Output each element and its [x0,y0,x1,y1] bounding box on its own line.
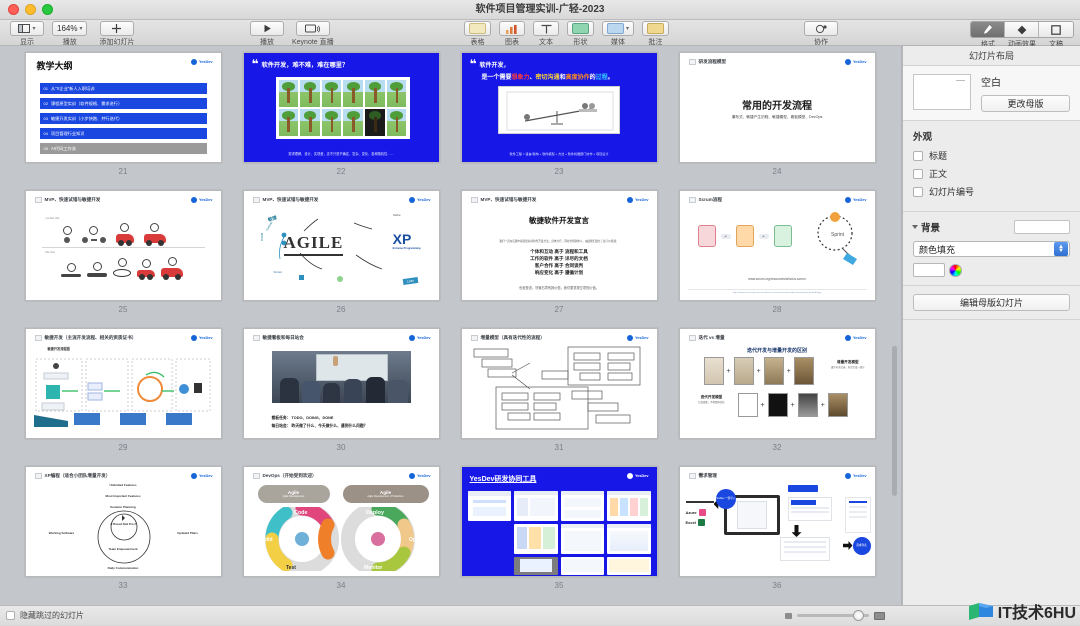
layout-name: 空白 [981,74,1070,89]
slide-header: XP编程（适合小团队增量开发） [35,473,111,479]
insert-chart-button[interactable]: 图表 [495,20,529,47]
yesdev-cards-row3 [462,557,657,577]
manifesto-footer: 也就是说，尽管右项有其价值，我们更重视左项的价值。 [486,286,633,291]
slide-cell[interactable]: 敏捷看板和每日站会 YesDev [232,328,450,466]
logo-text: YesDev [635,336,649,340]
logo-text: YesDev [199,198,213,202]
bottom-bar: 隐藏跳过的幻灯片 IT技术6HU [0,605,1080,625]
collaborate-button[interactable]: 协作 [800,20,842,47]
title-bar: 软件项目管理实训-广轻-2023 [0,0,1080,20]
slide-cell[interactable]: Scrum流程 YesDev ➜ ➜ [668,190,886,328]
header-box-icon [253,473,260,479]
logo: YesDev [845,59,867,65]
slide-cell[interactable]: XP编程（适合小团队增量开发） YesDev Unlimited Feature… [14,466,232,604]
logo-dot-icon [627,473,633,479]
watermark-text: IT技术6HU [998,599,1076,623]
logo-text: YesDev [199,474,213,478]
insert-table-button[interactable]: 表格 [460,20,495,47]
chevron-down-icon: ▾ [32,25,35,32]
agile-flow-diagram [34,353,214,427]
slide-header-text: MVP、快速试错与敏捷开发 [45,197,101,203]
tree-cell [364,79,386,108]
play-button[interactable]: 播放 [246,20,288,47]
slide-thumbnail[interactable]: 迭代 vs 增量 YesDev 迭代开发与增量开发的区别 + + + [679,328,876,439]
slide-number: 29 [119,443,128,452]
slide-number: 32 [773,443,782,452]
face-icon [168,257,177,266]
face-icon [118,258,127,267]
devops-banner-left: Agile Agile Development [258,485,330,503]
slide-header-text: 研发流程模型 [699,59,727,65]
tab-format[interactable] [971,22,1005,37]
logo-text: YesDev [199,60,213,64]
media-icon [607,23,624,34]
scrollbar-thumb[interactable] [892,346,897,496]
xp-node: Team Empowerment [26,547,221,551]
outline-bar: 02 课程原型实训（软件规格、需求进行） [40,98,207,109]
header-box-icon [35,473,42,479]
svg-text:Sprint: Sprint [831,232,845,238]
slide-header-text: Scrum流程 [699,197,723,203]
slide-thumbnail[interactable]: 敏捷看板和每日站会 YesDev [243,328,440,439]
slide-header: 增量模型（具有迭代性的流程） [471,335,545,341]
slide-header-text: XP编程（适合小团队增量开发） [45,473,111,479]
view-button[interactable]: ▾ 显示 [6,20,48,47]
badge-import: YesDev 一键导入 [716,489,736,509]
increment-caption: 增量开发模型 逐步补充完善，每次完成一部分 [831,360,864,369]
logo-text: YesDev [853,336,867,340]
tree-cell [278,108,300,137]
slide-thumbnail[interactable]: ❝ 软件开发， 是一个需要想象力、密切沟通和高度协作的过程。 [461,52,658,163]
slide-header: MVP、快速试错与敏捷开发 [35,197,101,203]
background-color-well[interactable] [913,263,945,277]
format-brush-icon [982,24,993,35]
header-box-icon [35,335,42,341]
zoom-slider-track[interactable] [797,614,869,617]
banner-left-sub: Agile Development [283,495,305,498]
document-square-icon [1051,25,1061,35]
req-panel-3 [845,497,871,533]
t-pre: 是一个需要 [482,75,512,81]
slide-grid: 教学大纲 YesDev 01 从"X企业"新人入职培训 [0,46,901,604]
logo: YesDev [409,335,431,341]
checkbox-body[interactable]: 正文 [913,167,1070,180]
slide-title: 敏捷软件开发宣言 [462,215,657,226]
svg-text:Monitor: Monitor [364,565,382,571]
hide-skipped-label: 隐藏跳过的幻灯片 [20,610,84,621]
slide-thumbnail[interactable]: YesDev研发协同工具 YesDev [461,466,658,577]
slide-cell[interactable]: 需求管理 YesDev Azure [668,466,886,604]
yd-card [514,491,558,521]
checkbox-icon[interactable] [913,169,923,179]
slide-thumbnail[interactable]: Scrum流程 YesDev ➜ ➜ [679,190,876,301]
chevron-down-icon [912,225,918,229]
play-icon [263,24,272,33]
insert-comment-button[interactable]: 批注 [638,20,673,47]
slide-number: 21 [119,167,128,176]
logo-dot-icon [845,59,851,65]
scrum-caption: www.scrum.org/resources/what-is-scrum [692,277,863,282]
tree-cell [364,108,386,137]
yd-card [468,491,512,521]
yd-card-empty [468,524,512,554]
yesdev-cards-row2 [462,524,657,554]
manifesto-lines: 个体和互动 高于 流程和工具 工作的软件 高于 详尽的文档 客户合作 高于 合同… [462,248,657,276]
svg-text:Code: Code [294,510,307,516]
logo: YesDev [627,335,649,341]
appearance-label: 外观 [913,129,1070,143]
tool-name: Azure [686,510,697,515]
yd-card [514,557,558,575]
yd-card [561,557,605,575]
logo-text: YesDev [199,336,213,340]
t-hl3: 高度协作 [566,75,590,81]
watermark: IT技术6HU [968,599,1076,623]
t-hl4: 过程 [596,75,608,81]
yd-card [561,491,605,521]
slide-thumbnail[interactable]: DevOps（开始受到欢迎） YesDev Agile Agile Develo… [243,466,440,577]
svg-text:Operate: Operate [409,537,428,543]
tree-cell [342,79,364,108]
badge-text: 需求列表 [856,544,866,547]
arrow-down-icon [792,525,802,537]
slide-thumbnail[interactable]: MVP、快速试错与敏捷开发 YesDev AGILE XP Extrem [243,190,440,301]
inspector-tabs: 格式 动画效果 文稿 [970,20,1074,49]
bar-text: 敏捷开发实训（小步快跑、并行迭代） [51,116,122,122]
logo: YesDev [191,197,213,203]
slide-number: 22 [337,167,346,176]
slide-header-text: 敏捷看板和每日站会 [263,335,304,341]
slide-navigator[interactable]: 教学大纲 YesDev 01 从"X企业"新人入职培训 [0,46,902,605]
slide-title-line2: 是一个需要想象力、密切沟通和高度协作的过程。 [482,72,649,81]
zoom-slider-knob[interactable] [853,610,864,621]
tree-cell [278,79,300,108]
main-area: 教学大纲 YesDev 01 从"X企业"新人入职培训 [0,46,1080,605]
slide-header: Scrum流程 [689,197,723,203]
logo-dot-icon [191,473,197,479]
increment-diagram [468,345,654,433]
outline-bar: 03 敏捷开发实训（小步快跑、并行迭代） [40,113,207,124]
keynote-window: 软件项目管理实训-广轻-2023 ▾ 显示 164% ▾ 播放 [0,0,1080,625]
insert-media-button[interactable]: ▾ 媒体 [598,20,638,47]
slide-header: 迭代 vs 增量 [689,335,725,341]
checkbox-icon[interactable] [6,611,15,620]
logo: YesDev [191,473,213,479]
scrum-url: https://www.scrum.org/resources/what-is-… [688,289,867,294]
svg-text:Test: Test [286,565,296,571]
slide-title: 迭代开发与增量开发的区别 [680,347,875,354]
logo-dot-icon [845,335,851,341]
iterate-sub: 反复细化，不断整体优化 [692,400,732,404]
tool-name: Excel [686,520,696,525]
devops-infinity-icon: Code Build Test Deploy Operate Monitor [254,507,432,571]
edit-master-button[interactable]: 编辑母版幻灯片 [913,294,1070,311]
mvp-row-1 [48,223,181,243]
t-hl1: 想象力 [512,75,530,81]
insert-text-button[interactable]: 文本 [529,20,563,47]
face-icon [120,223,129,232]
logo-dot-icon [191,59,197,65]
background-section: 背景 颜色填充 ▲▼ [903,212,1080,286]
slide-number: 27 [555,305,564,314]
color-wheel-icon[interactable] [949,264,962,277]
background-color-row [913,263,1070,277]
bar-text: AI代码工作流 [51,146,76,152]
window-title: 软件项目管理实训-广轻-2023 [0,0,1080,20]
slide-cell[interactable]: MVP、快速试错与敏捷开发 YesDev AGILE XP Extrem [232,190,450,328]
arrow-icon: ➜ [759,234,769,239]
logo-dot-icon [191,335,197,341]
logo: YesDev [627,197,649,203]
slide-thumbnail[interactable]: XP编程（适合小团队增量开发） YesDev Unlimited Feature… [25,466,222,577]
bar-num: 04 [44,131,48,136]
tab-document[interactable] [1039,22,1073,37]
toolbar: ▾ 显示 164% ▾ 播放 添加幻灯片 [0,20,1080,46]
outline-bar-muted: 05 AI代码工作流 [40,143,207,154]
bar-text: 课程原型实训（软件规格、需求进行） [51,101,122,107]
background-preview-swatch[interactable] [1014,220,1070,234]
header-box-icon [35,197,42,203]
slide-title-line1: 软件开发， [480,60,510,69]
slide-caption: 软件工程 = 语言/架构 + 软件模型 + 方法 + 软件机器部门协作 + 项目… [472,151,647,156]
logo-text: YesDev [635,198,649,202]
hide-skipped-row[interactable]: 隐藏跳过的幻灯片 [6,610,84,621]
slide-number: 25 [119,305,128,314]
zoom-value: 164% [57,24,77,33]
slide-number: 31 [555,443,564,452]
slide-number: 33 [119,581,128,590]
slide-thumbnail[interactable]: MVP、快速试错与敏捷开发 YesDev 敏捷软件开发宣言 我们一直在实践中探索… [461,190,658,301]
add-slide-button[interactable]: 添加幻灯片 [95,20,138,47]
face-icon [93,262,102,271]
logo-dot-icon [409,335,415,341]
outline-bar: 01 从"X企业"新人入职培训 [40,83,207,94]
bar-num: 03 [44,116,48,121]
slide-number: 28 [773,305,782,314]
slide-header: 敏捷看板和每日站会 [253,335,304,341]
arrow-icon: ➜ [721,234,731,239]
animate-diamond-icon [1017,25,1027,35]
slide-header-text: 增量模型（具有迭代性的流程） [481,335,545,341]
tab-animate[interactable] [1005,22,1039,37]
xp-node: Working Software [46,531,78,535]
scrum-card [736,225,754,247]
stepper-icon[interactable]: ▲▼ [1054,242,1068,256]
scrum-card [774,225,792,247]
logo-text: YesDev [853,474,867,478]
display-icon [305,24,320,34]
logo-dot-icon [191,197,197,203]
req-panel-2 [780,537,830,561]
shape-icon [572,23,589,34]
chevron-down-icon: ▾ [79,25,82,32]
slide-header: 需求管理 [689,473,717,479]
slide-number: 26 [337,305,346,314]
keynote-live-button[interactable]: Keynote 直播 [288,20,338,47]
logo-text: YesDev [635,474,649,478]
logo-dot-icon [627,197,633,203]
slide-header: 教学大纲 [35,59,73,72]
slide-cell[interactable]: DevOps（开始受到欢迎） YesDev Agile Agile Develo… [232,466,450,604]
header-box-icon [471,197,478,203]
slide-number: 36 [773,581,782,590]
increment-sub: 逐步补充完善，每次完成一部分 [831,365,864,369]
checkbox-title[interactable]: 标题 [913,149,1070,162]
slide-thumbnail[interactable]: 教学大纲 YesDev 01 从"X企业"新人入职培训 [25,52,222,163]
logo-dot-icon [845,473,851,479]
slide-thumbnail[interactable]: 敏捷开发（主流开发流程、相关的资质证书） YesDev 敏捷开发流程图 [25,328,222,439]
zoom-out-icon[interactable] [785,613,792,619]
slide-cell[interactable]: YesDev研发协同工具 YesDev [450,466,668,604]
slide-cell[interactable]: ❝ 软件开发， 是一个需要想象力、密切沟通和高度协作的过程。 [450,52,668,190]
tree-cell [321,108,343,137]
logo: YesDev [845,335,867,341]
svg-text:Build: Build [260,537,273,543]
yd-card [607,557,651,575]
comment-icon [647,23,664,34]
manifesto-line: 响应变化 高于 遵循计划 [462,269,657,276]
logo: YesDev [845,197,867,203]
outline-bars: 01 从"X企业"新人入职培训 02 课程原型实训（软件规格、需求进行） 03 … [40,83,207,154]
slide-cell[interactable]: MVP、快速试错与敏捷开发 YesDev 敏捷软件开发宣言 我们一直在实践中探索… [450,190,668,328]
view-icon [18,24,30,33]
header-box-icon [689,197,696,203]
xp-cycle-diagram [70,509,178,571]
slide-header: 敏捷开发（主流开发流程、相关的资质证书） [35,335,137,341]
xp-node: Most Important Features [26,494,221,498]
devops-banner-right: Agile Agile Development | Production [343,485,429,503]
appearance-section: 外观 标题 正文 幻灯片编号 [903,121,1080,212]
xp-node: A Phased Real Proof [26,523,221,526]
tree-cell [386,108,408,137]
slide-title: 软件开发，难不难，难在哪里？ [262,60,349,69]
background-label: 背景 [921,220,940,234]
slide-title: 教学大纲 [37,59,73,72]
row-label-2: like this [46,250,55,254]
badge-text: YesDev 一键导入 [716,497,736,500]
logo-dot-icon [627,335,633,341]
change-master-button[interactable]: 更改母版 [981,95,1070,112]
face-icon [67,263,76,272]
slide-thumbnail[interactable]: ❝ 软件开发，难不难，难在哪里？ [243,52,440,163]
logo-text: YesDev [417,474,431,478]
face-icon [63,226,72,235]
badge-list: 需求列表 [853,537,871,555]
text-icon [540,24,553,34]
bar-num: 02 [44,101,48,106]
slide-thumbnail[interactable]: 需求管理 YesDev Azure [679,466,876,577]
tree-cell [299,108,321,137]
quote-icon: ❝ [470,60,477,68]
checkbox-label: 正文 [929,167,947,180]
yd-card [514,524,558,554]
face-icon [89,226,98,235]
yd-card [561,524,605,554]
edit-master-section: 编辑母版幻灯片 [903,286,1080,320]
background-fill-value: 颜色填充 [919,243,955,256]
slide-cell[interactable]: ❝ 软件开发，难不难，难在哪里？ [232,52,450,190]
azure-icon [699,509,706,516]
mvp-row-2 [44,257,201,277]
header-box-icon [689,59,696,65]
slide-cell[interactable]: 增量模型（具有迭代性的流程） YesDev [450,328,668,466]
seesaw-image [498,86,620,134]
tree-cell [342,108,364,137]
manifesto-line: 个体和互动 高于 流程和工具 [462,248,657,255]
slide-cell[interactable]: 研发流程模型 YesDev 常用的开发流程 瀑布式、敏捷产生历程、敏捷模型、看板… [668,52,886,190]
background-disclosure[interactable]: 背景 [913,220,940,234]
iterate-caption: 迭代开发模型 反复细化，不断整体优化 [692,395,732,404]
iterate-row: + + + [738,393,848,417]
slide-thumbnail[interactable]: 研发流程模型 YesDev 常用的开发流程 瀑布式、敏捷产生历程、敏捷模型、看板… [679,52,876,163]
logo: YesDev [627,473,649,479]
slide-header-text: 迭代 vs 增量 [699,335,725,341]
face-icon [150,223,159,232]
xp-node: Updated Plans [173,531,203,535]
req-panel [788,497,832,521]
slide-cell[interactable]: 教学大纲 YesDev 01 从"X企业"新人入职培训 [14,52,232,190]
zoom-in-icon[interactable] [874,612,885,620]
slide-layout-section: 空白 更改母版 [903,66,1080,121]
slide-header-text: DevOps（开始受到欢迎） [263,473,317,479]
manifesto-intro: 我们一直在实践中探索更好的软件开发方法，身体力行，同时也帮助他人。由此我们建立了… [476,239,643,243]
logo: YesDev [191,335,213,341]
standup-photo [272,351,411,403]
outline-bar: 04 项目管理行业知识 [40,128,207,139]
checkbox-slide-number[interactable]: 幻灯片编号 [913,185,1070,198]
header-box-icon [689,335,696,341]
slide-thumbnail[interactable]: MVP、快速试错与敏捷开发 YesDev not like this [25,190,222,301]
header-box-icon [471,335,478,341]
zoom-slider-control[interactable] [785,612,885,620]
slide-title: 常用的开发流程 [680,97,875,112]
yesdev-cards-row1 [462,491,657,521]
collaborate-icon [815,24,828,34]
slide-header: MVP、快速试错与敏捷开发 [471,197,537,203]
slide-thumbnail[interactable]: 增量模型（具有迭代性的流程） YesDev [461,328,658,439]
zoom-button[interactable]: 164% ▾ 播放 [48,20,91,47]
slide-number: 35 [555,581,564,590]
kanban-line-1: 看板任务： TODO、DOING、DONE [272,416,334,421]
slide-cell[interactable]: 迭代 vs 增量 YesDev 迭代开发与增量开发的区别 + + + [668,328,886,466]
navigator-scrollbar[interactable] [890,46,899,605]
increment-row: + + + [704,357,814,385]
object-tools: 表格 图表 文本 [460,20,673,47]
chart-icon [505,24,519,34]
source-tools: Azure Excel [686,501,714,526]
checkbox-icon[interactable] [913,151,923,161]
slide-header: DevOps（开始受到欢迎） [253,473,317,479]
slide-title: YesDev研发协同工具 [470,474,537,484]
t-hl2: 密切沟通 [536,75,560,81]
checkbox-label: 幻灯片编号 [929,185,974,198]
slide-number: 23 [555,167,564,176]
slide-header-text: 需求管理 [699,473,717,479]
req-tag [788,485,818,492]
row-label-1: not like this [46,216,60,220]
slide-cell[interactable]: MVP、快速试错与敏捷开发 YesDev not like this [14,190,232,328]
scrum-card [698,225,716,247]
slide-number: 30 [337,443,346,452]
background-fill-select[interactable]: 颜色填充 ▲▼ [913,241,1070,257]
checkbox-icon[interactable] [913,187,923,197]
banner-right-sub: Agile Development | Production [367,495,403,498]
logo-dot-icon [845,197,851,203]
layout-thumbnail[interactable] [913,74,971,110]
bar-num: 05 [44,146,48,151]
slide-cell[interactable]: 敏捷开发（主流开发流程、相关的资质证书） YesDev 敏捷开发流程图 [14,328,232,466]
insert-shape-button[interactable]: 形状 [563,20,598,47]
